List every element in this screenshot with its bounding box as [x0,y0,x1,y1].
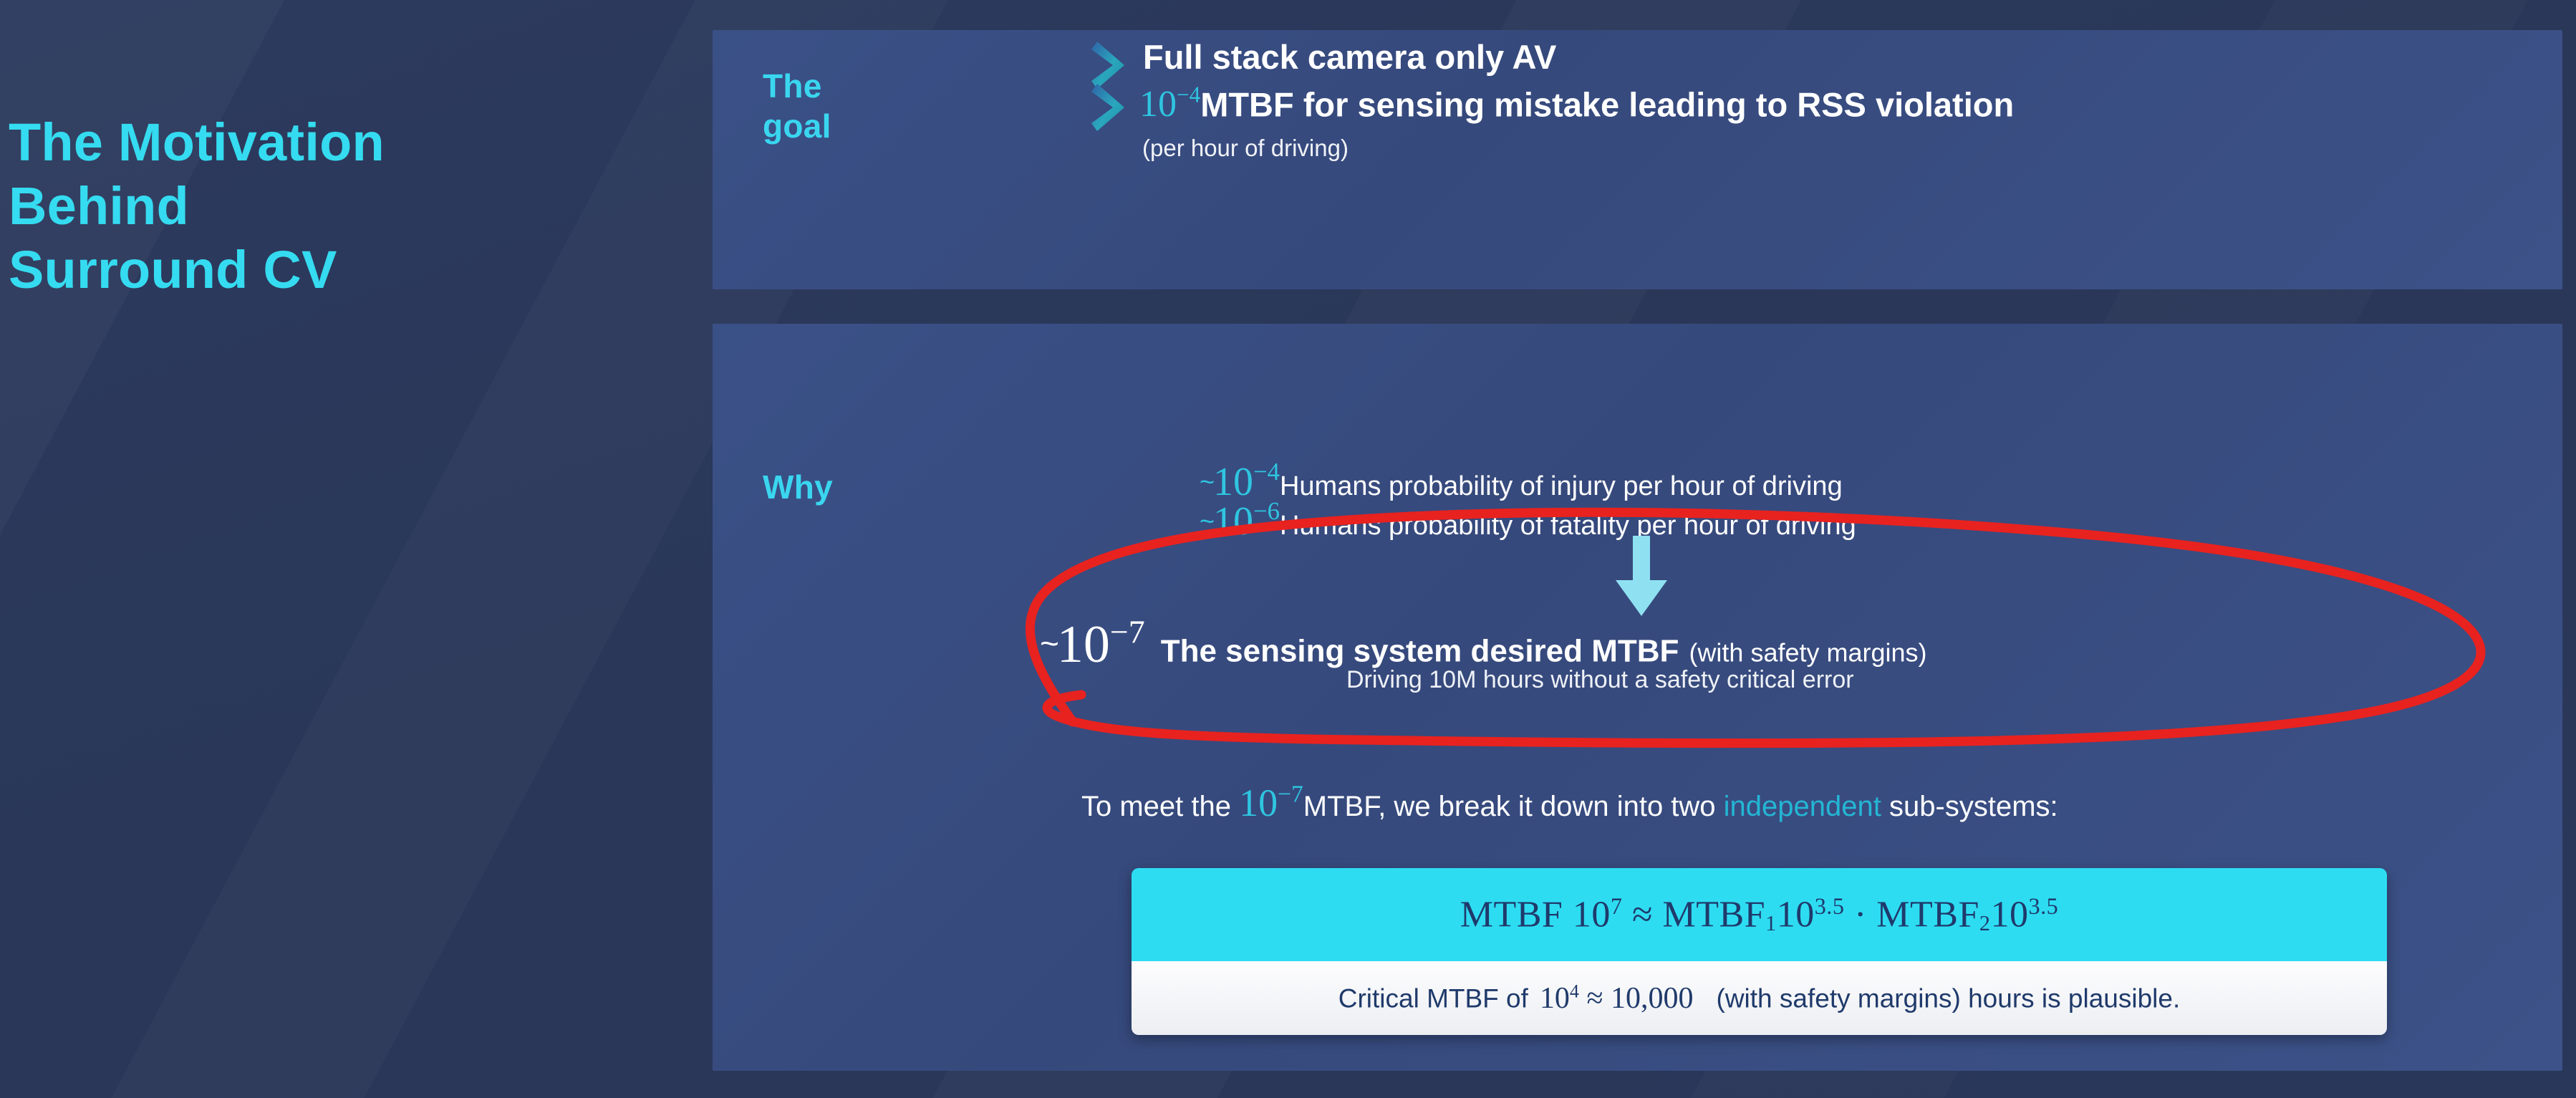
goal-bullet-2-subtext: (per hour of driving) [1142,135,1349,162]
goal-bullet-2-text: MTBF for sensing mistake leading to RSS … [1200,85,2014,123]
formula-card: MTBF 107 ≈ MTBF1103.5 · MTBF2103.5 Criti… [1132,868,2387,1035]
goal-label-line-2: goal [763,106,831,146]
title-line-3: Surround CV [9,239,653,302]
why-stat-2: ~10−6Humans probability of fatality per … [1200,497,1856,544]
formula-card-header: MTBF 107 ≈ MTBF1103.5 · MTBF2103.5 [1132,868,2387,961]
note-math: 104 ≈ 10,000 [1540,982,1694,1015]
chevron-right-icon [1090,80,1132,135]
why-highlight-subtext: Driving 10M hours without a safety criti… [1346,666,1854,694]
critical-mtbf-note: Critical MTBF of104 ≈ 10,000(with safety… [1338,981,2181,1015]
goal-label-line-1: The [763,66,831,106]
goal-panel: The goal Full stack camera only AV [713,30,2562,289]
breakdown-emphasis: independent [1724,791,1881,822]
why-stat-2-text: Humans probability of fatality per hour … [1280,511,1856,541]
why-stat-2-math: ~10−6 [1200,499,1280,544]
goal-bullet-2-math: 10−4 [1139,84,1200,125]
goal-bullet-1-text: Full stack camera only AV [1143,40,1556,74]
why-highlight-main: The sensing system desired MTBF [1161,634,1679,669]
slide-canvas: The Motivation Behind Surround CV The go… [0,0,2576,1098]
breakdown-math: 10−7 [1239,781,1303,824]
breakdown-suffix: sub-systems: [1889,791,2058,822]
down-arrow-icon [1614,536,1669,616]
title-line-1: The Motivation [9,111,653,175]
breakdown-middle: MTBF, we break it down into two [1303,791,1716,822]
page-title: The Motivation Behind Surround CV [9,111,653,302]
goal-panel-label: The goal [763,66,831,146]
title-line-2: Behind [9,175,653,239]
why-breakdown-line: To meet the 10−7MTBF, we break it down i… [1081,781,2058,825]
mtbf-formula: MTBF 107 ≈ MTBF1103.5 · MTBF2103.5 [1460,893,2059,936]
formula-card-note: Critical MTBF of104 ≈ 10,000(with safety… [1132,961,2387,1035]
note-prefix: Critical MTBF of [1338,984,1528,1013]
why-highlight-math: ~10−7 [1040,615,1145,674]
breakdown-prefix: To meet the [1081,791,1231,822]
note-suffix: (with safety margins) hours is plausible… [1717,984,2181,1013]
why-panel-label: Why [763,467,833,507]
goal-bullet-2: 10−4MTBF for sensing mistake leading to … [1139,84,2014,123]
why-highlight-paren: (with safety margins) [1689,638,1926,668]
